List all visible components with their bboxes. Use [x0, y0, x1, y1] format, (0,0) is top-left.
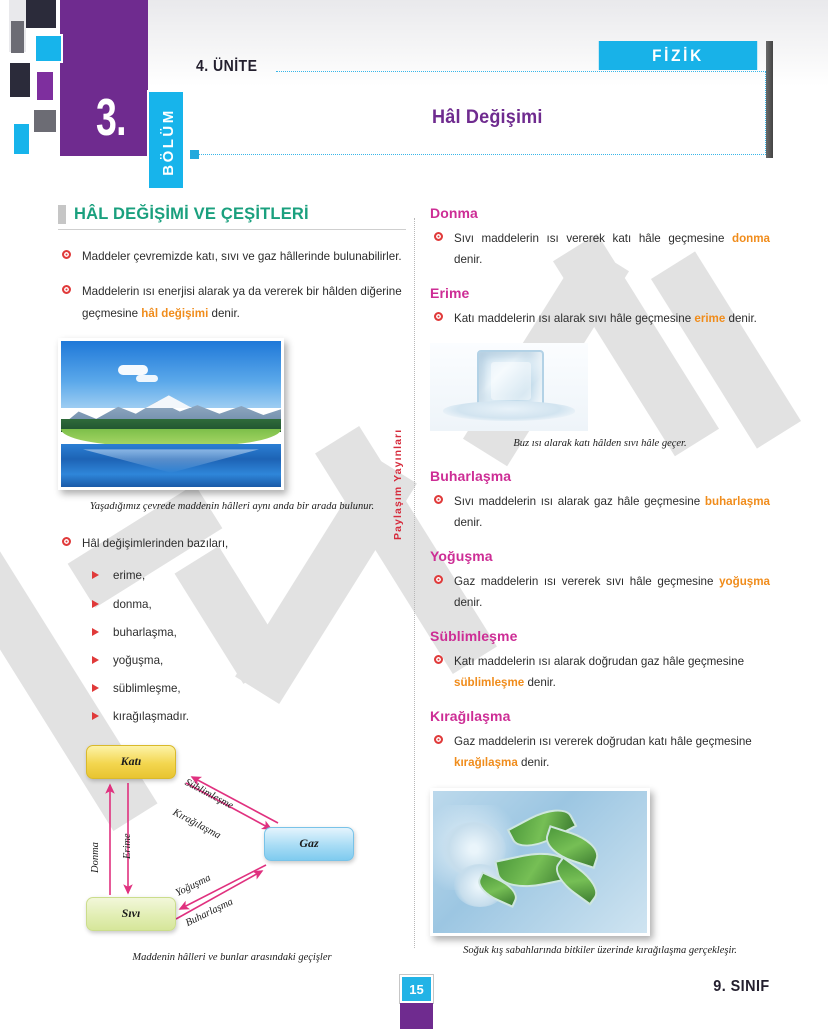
list-item: erime,: [92, 568, 406, 583]
diagram-node-gaz: Gaz: [264, 827, 354, 861]
bullet-text: Sıvı maddelerin ısı alarak gaz hâle geçm…: [454, 491, 770, 534]
section-heading-text: HÂL DEĞİŞİMİ VE ÇEŞİTLERİ: [74, 205, 309, 224]
bullet-post: denir.: [725, 312, 757, 325]
diagram-label-donma: Donma: [90, 842, 101, 873]
bullet-post: denir.: [454, 253, 482, 266]
photo-ice-inner: [491, 362, 531, 400]
chapter-number: 3.: [96, 88, 126, 148]
keyword-highlight: buharlaşma: [705, 495, 770, 508]
arrow-bullet-icon: [92, 712, 99, 720]
ice-caption: Buz ısı alarak katı hâlden sıvı hâle geç…: [430, 437, 770, 452]
diagram-node-sivi: Sıvı: [86, 897, 176, 931]
page-title: Hâl Değişimi: [432, 107, 543, 129]
bullet-post: denir.: [454, 596, 482, 609]
diagram-node-label: Sıvı: [122, 906, 141, 921]
subsection-heading: Erime: [430, 285, 770, 301]
bullet-pre: Sıvı maddelerin ısı vererek katı hâle ge…: [454, 232, 732, 245]
left-column: HÂL DEĞİŞİMİ VE ÇEŞİTLERİ Maddeler çevre…: [58, 205, 406, 966]
bullet-text: Katı maddelerin ısı alarak sıvı hâle geç…: [454, 308, 770, 329]
heading-underline: [58, 229, 406, 230]
bullet-item: Maddelerin ısı enerjisi alarak ya da ver…: [58, 281, 406, 324]
footer-purple-block: [400, 1003, 433, 1029]
keyword-highlight: kırağılaşma: [454, 756, 518, 769]
subsection-heading: Süblimleşme: [430, 628, 770, 644]
bullet-text: Maddeler çevremizde katı, sıvı ve gaz hâ…: [82, 246, 406, 267]
chapter-badge-label: BÖLÜM: [149, 92, 187, 192]
bullet-item: Katı maddelerin ısı alarak doğrudan gaz …: [430, 651, 770, 694]
list-item: donma,: [92, 597, 406, 612]
diagram-label-erime: Erime: [122, 833, 133, 859]
list-item: yoğuşma,: [92, 653, 406, 668]
list-item: buharlaşma,: [92, 625, 406, 640]
column-divider: [414, 218, 415, 948]
bullet-item: Gaz maddelerin ısı vererek doğrudan katı…: [430, 731, 770, 774]
bullet-pre: Sıvı maddelerin ısı alarak gaz hâle geçm…: [454, 495, 705, 508]
publisher-brand: Paylaşım Yayınları: [392, 410, 408, 540]
arrow-bullet-icon: [92, 571, 99, 579]
unit-label: 4. ÜNİTE: [196, 58, 257, 76]
header-dot-marker: [190, 150, 199, 159]
subject-badge: FİZİK: [599, 41, 757, 70]
bullet-post: denir.: [208, 307, 240, 320]
arrow-bullet-icon: [92, 684, 99, 692]
photo-cloud: [118, 365, 148, 375]
grade-label: 9. SINIF: [714, 978, 770, 996]
frost-photo-wrap: [430, 788, 770, 936]
header-dotline-top: [276, 71, 766, 72]
arrow-bullet-icon: [92, 600, 99, 608]
bullet-dot-icon: [434, 575, 443, 584]
bullet-dot-icon: [434, 312, 443, 321]
keyword-highlight: yoğuşma: [719, 575, 770, 588]
bullet-pre: Katı maddelerin ısı alarak doğrudan gaz …: [454, 655, 744, 668]
frost-caption: Soğuk kış sabahlarında bitkiler üzerinde…: [430, 944, 770, 959]
heading-accent-bar: [58, 205, 66, 224]
section-buharlasma: Buharlaşma Sıvı maddelerin ısı alarak ga…: [430, 468, 770, 534]
bullet-dot-icon: [434, 232, 443, 241]
diagram-node-kati: Katı: [86, 745, 176, 779]
section-heading: HÂL DEĞİŞİMİ VE ÇEŞİTLERİ: [58, 205, 406, 229]
bullet-pre: Gaz maddelerin ısı vererek doğrudan katı…: [454, 735, 752, 748]
bullet-pre: Katı maddelerin ısı alarak sıvı hâle geç…: [454, 312, 694, 325]
ice-photo-wrap: [430, 343, 770, 431]
page-number-badge: 15: [400, 975, 433, 1003]
keyword-highlight: erime: [694, 312, 725, 325]
subsection-heading: Yoğuşma: [430, 548, 770, 564]
decor-square-cyan-1: [34, 34, 63, 63]
list-item-label: yoğuşma,: [113, 653, 163, 668]
list-item-label: donma,: [113, 597, 152, 612]
photo-cloud: [136, 375, 158, 382]
arrow-bullet-icon: [92, 656, 99, 664]
list-item: süblimleşme,: [92, 681, 406, 696]
arrow-bullet-icon: [92, 628, 99, 636]
frost-plant-photo: [430, 788, 650, 936]
section-kiragilasma: Kırağılaşma Gaz maddelerin ısı vererek d…: [430, 708, 770, 774]
textbook-page: 3. BÖLÜM 4. ÜNİTE FİZİK Hâl Değişimi Pay…: [0, 0, 828, 1029]
decor-square-dark-1: [26, 0, 56, 28]
decor-square-dark-2: [10, 63, 30, 97]
keyword-highlight: hâl değişimi: [141, 307, 208, 320]
bullet-pre: Maddelerin ısı enerjisi alarak ya da ver…: [82, 285, 402, 319]
bullet-dot-icon: [62, 537, 71, 546]
subsection-heading: Donma: [430, 205, 770, 221]
bullet-text: Gaz maddelerin ısı vererek doğrudan katı…: [454, 731, 770, 774]
section-sublimlesme: Süblimleşme Katı maddelerin ısı alarak d…: [430, 628, 770, 694]
diagram-node-label: Gaz: [299, 836, 318, 851]
landscape-photo-wrap: [58, 338, 406, 490]
subsection-heading: Buharlaşma: [430, 468, 770, 484]
landscape-photo: [58, 338, 284, 490]
bullet-dot-icon: [434, 495, 443, 504]
header-dotline-bottom: [196, 154, 766, 155]
bullet-text: Maddelerin ısı enerjisi alarak ya da ver…: [82, 281, 406, 324]
keyword-highlight: donma: [732, 232, 770, 245]
subsection-heading: Kırağılaşma: [430, 708, 770, 724]
list-item: kırağılaşmadır.: [92, 709, 406, 724]
right-column: Donma Sıvı maddelerin ısı vererek katı h…: [430, 205, 770, 958]
bullet-item: Sıvı maddelerin ısı alarak gaz hâle geçm…: [430, 491, 770, 534]
decor-square-gray-1: [11, 21, 24, 53]
list-item-label: erime,: [113, 568, 145, 583]
bullet-text: Hâl değişimlerinden bazıları,: [82, 533, 406, 554]
list-item-label: buharlaşma,: [113, 625, 177, 640]
photo-meltwater: [443, 401, 576, 420]
bullet-item: Maddeler çevremizde katı, sıvı ve gaz hâ…: [58, 246, 406, 267]
section-donma: Donma Sıvı maddelerin ısı vererek katı h…: [430, 205, 770, 271]
decor-square-gray-2: [34, 110, 56, 132]
bullet-text: Sıvı maddelerin ısı vererek katı hâle ge…: [454, 228, 770, 271]
ice-cube-photo: [430, 343, 588, 431]
bullet-post: denir.: [454, 516, 482, 529]
bullet-item: Hâl değişimlerinden bazıları,: [58, 533, 406, 554]
list-item-label: süblimleşme,: [113, 681, 181, 696]
decor-square-cyan-2: [12, 122, 31, 156]
bullet-dot-icon: [62, 285, 71, 294]
landscape-caption: Yaşadığımız çevrede maddenin hâlleri ayn…: [58, 500, 406, 515]
diagram-caption: Maddenin hâlleri ve bunlar arasındaki ge…: [58, 951, 406, 966]
diagram-node-label: Katı: [121, 754, 142, 769]
bullet-text: Katı maddelerin ısı alarak doğrudan gaz …: [454, 651, 770, 694]
section-yogusma: Yoğuşma Gaz maddelerin ısı vererek sıvı …: [430, 548, 770, 614]
list-item-label: kırağılaşmadır.: [113, 709, 189, 724]
bullet-text: Gaz maddelerin ısı vererek sıvı hâle geç…: [454, 571, 770, 614]
bullet-pre: Gaz maddelerin ısı vererek sıvı hâle geç…: [454, 575, 719, 588]
bullet-dot-icon: [434, 655, 443, 664]
keyword-highlight: süblimleşme: [454, 676, 524, 689]
state-transition-diagram: Katı Gaz Sıvı Süblimleşme Kırağılaşma Do…: [66, 737, 396, 937]
section-erime: Erime Katı maddelerin ısı alarak sıvı hâ…: [430, 285, 770, 329]
bullet-item: Gaz maddelerin ısı vererek sıvı hâle geç…: [430, 571, 770, 614]
bullet-post: denir.: [518, 756, 550, 769]
bullet-dot-icon: [62, 250, 71, 259]
bullet-item: Sıvı maddelerin ısı vererek katı hâle ge…: [430, 228, 770, 271]
chapter-badge: BÖLÜM: [147, 90, 185, 190]
decor-square-purple-1: [35, 70, 55, 102]
bullet-dot-icon: [434, 735, 443, 744]
header-right-bar: [766, 41, 773, 158]
bullet-post: denir.: [524, 676, 556, 689]
state-change-list: erime, donma, buharlaşma, yoğuşma, sübli…: [58, 568, 406, 723]
bullet-item: Katı maddelerin ısı alarak sıvı hâle geç…: [430, 308, 770, 329]
